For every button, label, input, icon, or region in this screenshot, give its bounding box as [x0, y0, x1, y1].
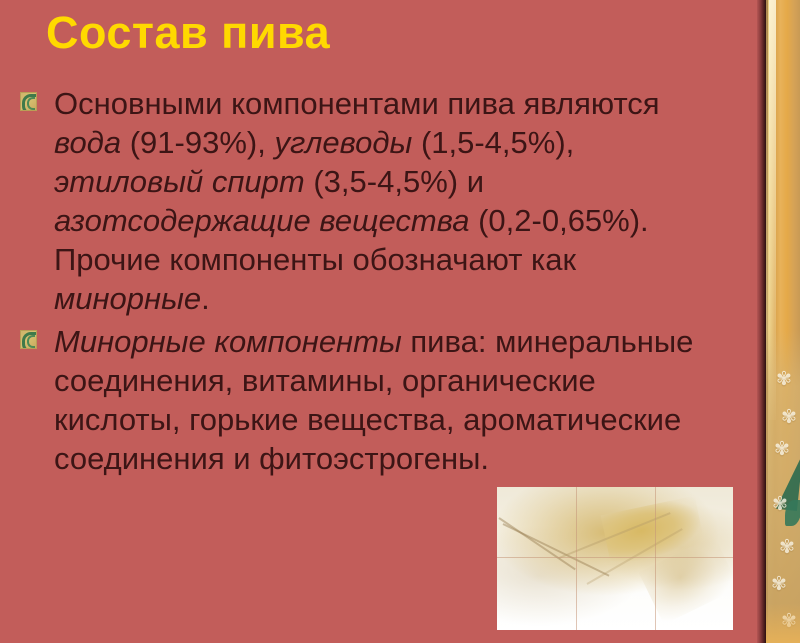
decorative-swirl-bullet-icon — [20, 330, 37, 349]
text-segment: (91-93%), — [121, 125, 274, 160]
text-segment-emphasis: Минорные компоненты — [54, 324, 402, 359]
list-item: Основными компонентами пива являются вод… — [18, 84, 730, 318]
bullet-paragraph-1: Основными компонентами пива являются вод… — [54, 84, 730, 318]
flower-ornament-icon: ✾ — [779, 538, 795, 557]
flower-ornament-icon: ✾ — [771, 575, 787, 594]
flower-ornament-icon: ✾ — [776, 370, 792, 389]
text-segment-emphasis: азотсодержащие вещества — [54, 203, 469, 238]
flower-ornament-icon: ✾ — [774, 440, 790, 459]
text-segment: (3,5-4,5%) и — [305, 164, 484, 199]
border-shadow-strip — [757, 0, 766, 643]
bullet-paragraph-2: Минорные компоненты пива: минеральные со… — [54, 322, 730, 478]
text-segment: . — [201, 281, 210, 316]
list-item: Минорные компоненты пива: минеральные со… — [18, 322, 730, 478]
text-segment-emphasis: минорные — [54, 281, 201, 316]
text-segment-emphasis: этиловый спирт — [54, 164, 305, 199]
gold-highlight-streak — [769, 0, 776, 420]
wheat-ears-photo — [497, 487, 733, 630]
content-body: Основными компонентами пива являются вод… — [18, 84, 730, 482]
text-segment-emphasis: вода — [54, 125, 121, 160]
flower-ornament-icon: ✾ — [781, 408, 797, 427]
right-decorative-border: ✾ ✾ ✾ ✾ ✾ ✾ ✾ — [757, 0, 800, 643]
photo-grid-line — [497, 557, 733, 558]
border-bottom-fade — [766, 603, 800, 643]
border-inner-line — [766, 0, 768, 643]
text-segment: Основными компонентами пива являются — [54, 86, 660, 121]
photo-grid-line — [576, 487, 577, 630]
photo-grid-line — [655, 487, 656, 630]
text-segment: (1,5-4,5%), — [412, 125, 574, 160]
slide-root: Состав пива Основными компонентами пива … — [0, 0, 800, 643]
flower-ornament-icon: ✾ — [772, 495, 788, 514]
text-segment-emphasis: углеводы — [274, 125, 412, 160]
wheat-stalk — [498, 517, 575, 570]
page-title: Состав пива — [46, 8, 330, 58]
decorative-swirl-bullet-icon — [20, 92, 37, 111]
